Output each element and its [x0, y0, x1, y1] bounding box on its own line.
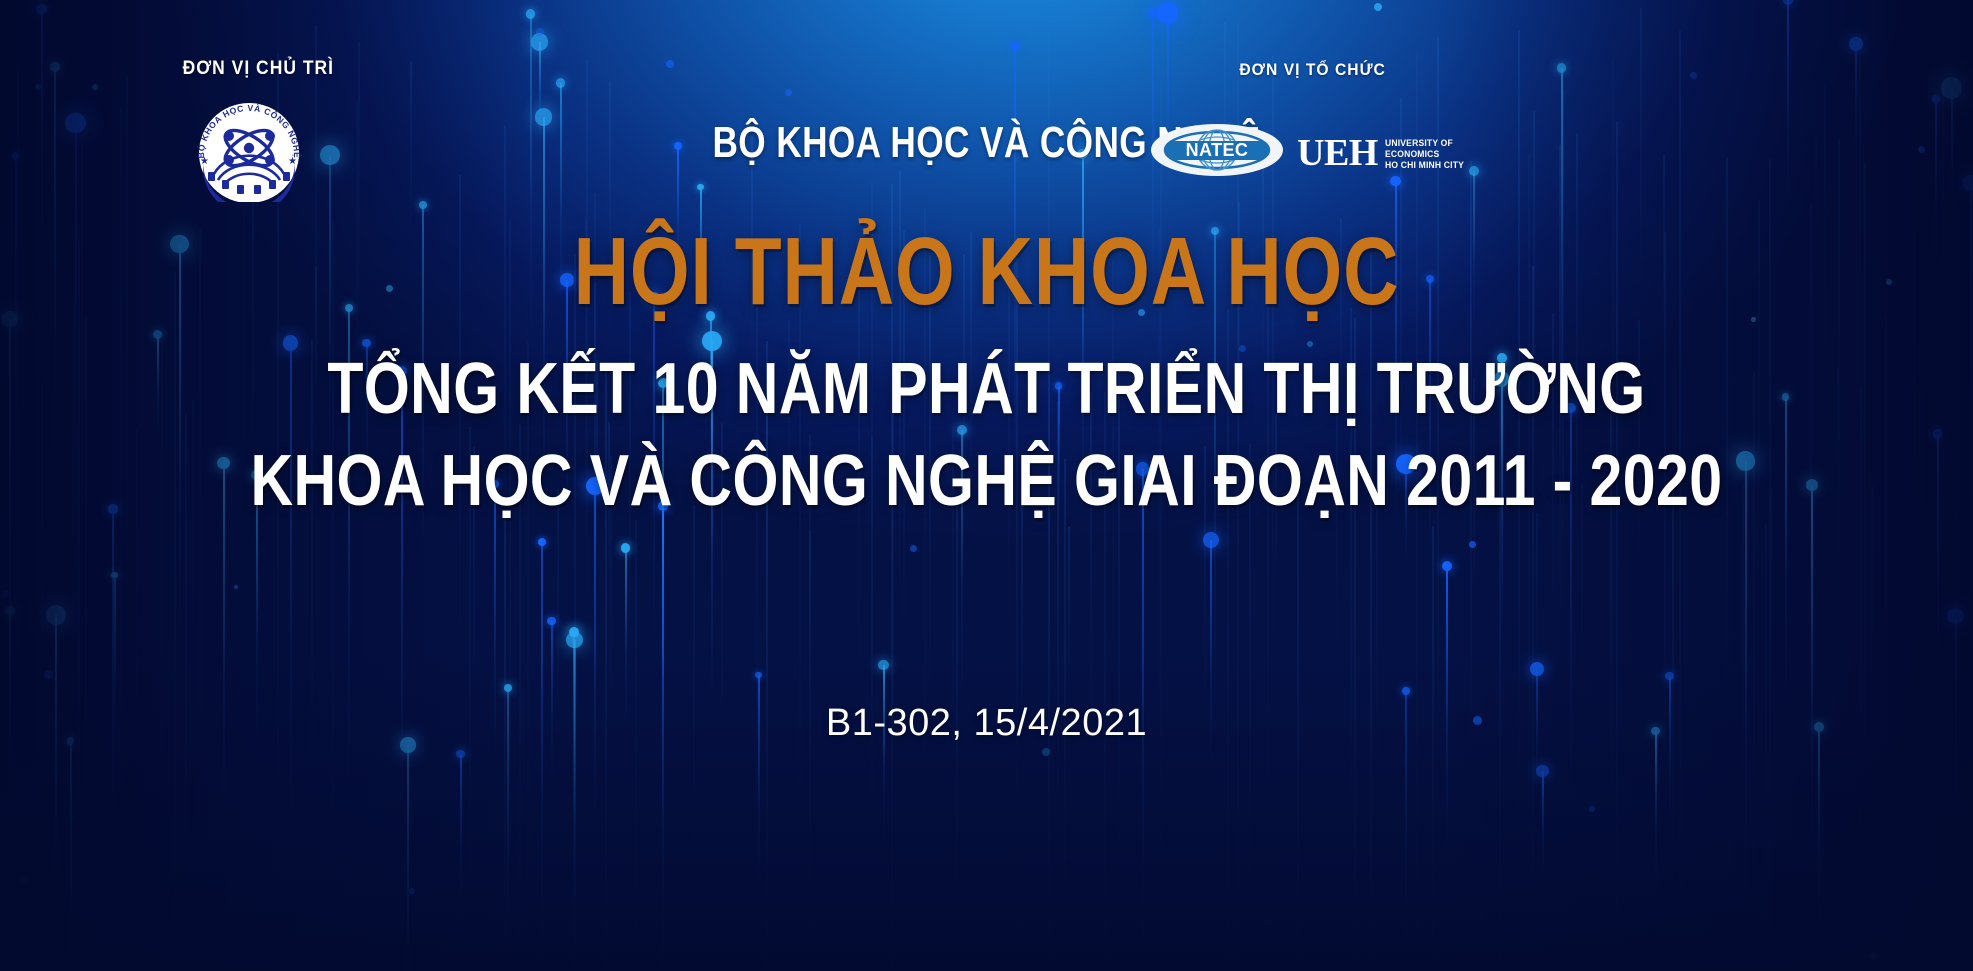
- background-streak: [1118, 362, 1120, 852]
- background-streak: [1432, 526, 1434, 971]
- particle-trail: [55, 615, 57, 971]
- particle-trail: [41, 9, 43, 339]
- background-streak: [1919, 389, 1921, 536]
- background-streak: [17, 69, 19, 799]
- ueh-subtext: University of Economics Ho Chi Minh City: [1385, 136, 1468, 170]
- particle-trail: [1669, 676, 1671, 823]
- ueh-subtext-line-2: Economics: [1385, 149, 1464, 159]
- particle-dot: [1530, 662, 1544, 676]
- particle-dot: [1402, 687, 1410, 695]
- background-streak: [81, 143, 83, 549]
- organizer-label: ĐƠN VỊ TỔ CHỨC: [1239, 60, 1385, 80]
- particle-dot: [65, 113, 86, 134]
- particle-trail: [54, 67, 56, 526]
- particle-dot: [12, 152, 19, 159]
- background-streak: [41, 385, 43, 833]
- particle-dot: [536, 28, 544, 36]
- particle-dot: [1941, 77, 1962, 98]
- particle-trail: [594, 486, 596, 827]
- particle-dot: [785, 89, 792, 96]
- background-streak: [1536, 513, 1538, 667]
- background-streak: [509, 221, 511, 920]
- particle-trail: [1542, 771, 1544, 881]
- particle-trail: [401, 371, 403, 812]
- particle-dot: [538, 538, 546, 546]
- background-streak: [1810, 203, 1812, 873]
- particle-trail: [573, 632, 575, 955]
- particle-dot: [531, 33, 548, 50]
- particle-dot: [1932, 95, 1940, 103]
- particle-dot: [569, 627, 579, 637]
- ueh-wordmark: UEH: [1297, 134, 1378, 172]
- particle-dot: [1690, 72, 1697, 79]
- particle-dot: [566, 632, 583, 649]
- particle-dot: [1442, 561, 1452, 571]
- host-label: ĐƠN VỊ CHỦ TRÌ: [183, 58, 334, 80]
- particle-dot: [5, 606, 15, 616]
- particle-dot: [170, 235, 189, 254]
- particle-dot: [621, 543, 630, 552]
- venue-date-text: B1-302, 15/4/2021: [0, 702, 1973, 744]
- background-streak: [1672, 483, 1674, 890]
- background-streak: [1942, 87, 1944, 345]
- particle-trail: [112, 509, 114, 844]
- background-streak: [73, 291, 75, 851]
- particle-dot: [1665, 672, 1674, 681]
- background-streak: [120, 108, 122, 971]
- particle-dot: [1011, 42, 1019, 50]
- bottom-vignette: [0, 651, 1973, 971]
- particle-trail: [70, 741, 72, 971]
- particle-dot: [153, 330, 162, 339]
- background-streak: [1770, 489, 1772, 723]
- particle-dot: [21, 877, 27, 883]
- ueh-subtext-line-3: Ho Chi Minh City: [1385, 160, 1464, 170]
- particle-dot: [1806, 479, 1818, 491]
- background-streak: [1859, 35, 1861, 419]
- particle-dot: [36, 4, 47, 15]
- background-streak: [1765, 524, 1767, 971]
- particle-dot: [111, 572, 118, 579]
- organization-title: BỘ KHOA HỌC VÀ CÔNG NGHỆ: [197, 118, 1775, 168]
- particle-dot: [910, 545, 917, 552]
- particle-trail: [114, 575, 116, 777]
- particle-trail: [1745, 461, 1747, 932]
- background-streak: [1068, 527, 1070, 692]
- particle-dot: [1390, 176, 1401, 187]
- background-streak: [1860, 387, 1862, 898]
- particle-dot: [1203, 532, 1219, 548]
- background-streak: [78, 241, 80, 971]
- background-streak: [199, 229, 201, 951]
- background-streak: [1837, 368, 1839, 497]
- particle-dot: [1157, 2, 1178, 23]
- conference-banner: ĐƠN VỊ CHỦ TRÌ: [0, 0, 1973, 971]
- particle-dot: [1, 590, 9, 598]
- background-streak: [1742, 486, 1744, 805]
- particle-trail: [157, 335, 159, 441]
- background-streak: [1, 156, 3, 632]
- background-streak: [693, 505, 695, 852]
- particle-dot: [1589, 806, 1595, 812]
- particle-trail: [551, 621, 553, 780]
- particle-dot: [697, 184, 704, 191]
- particle-dot: [526, 9, 535, 18]
- particle-trail: [1811, 485, 1813, 881]
- background-streak: [1224, 22, 1226, 207]
- particle-dot: [1783, 0, 1793, 5]
- particle-trail: [1855, 44, 1857, 163]
- particle-dot: [1, 311, 18, 328]
- background-streak: [1016, 258, 1018, 830]
- particle-dot: [50, 62, 60, 72]
- background-streak: [174, 271, 176, 971]
- particle-dot: [1849, 37, 1863, 51]
- particle-dot: [1557, 63, 1566, 72]
- particle-trail: [541, 542, 543, 971]
- background-streak: [635, 520, 637, 971]
- particle-dot: [1307, 341, 1313, 347]
- particle-dot: [556, 78, 565, 87]
- particle-dot: [456, 750, 465, 759]
- background-streak: [892, 368, 894, 811]
- particle-dot: [234, 585, 238, 589]
- background-streak: [1914, 234, 1916, 552]
- background-streak: [766, 341, 768, 971]
- particle-dot: [1148, 8, 1158, 18]
- particle-dot: [44, 670, 53, 679]
- event-subtitle-line-1: TỔNG KẾT 10 NĂM PHÁT TRIỂN THỊ TRƯỜNG: [178, 348, 1796, 430]
- particle-dot: [35, 84, 41, 90]
- particle-dot: [1042, 748, 1050, 756]
- background-streak: [1872, 486, 1874, 659]
- particle-dot: [1947, 608, 1964, 625]
- background-streak: [557, 489, 559, 731]
- background-streak: [1064, 459, 1066, 899]
- particle-dot: [1918, 146, 1925, 153]
- background-streak: [37, 152, 39, 394]
- particle-trail: [1970, 183, 1972, 686]
- particle-dot: [1869, 952, 1877, 960]
- particle-dot: [547, 617, 556, 626]
- particle-dot: [1886, 279, 1892, 285]
- background-streak: [1838, 138, 1840, 705]
- event-subtitle-line-2: KHOA HỌC VÀ CÔNG NGHỆ GIAI ĐOẠN 2011 - 2…: [178, 440, 1796, 522]
- particle-trail: [9, 319, 11, 837]
- particle-trail: [75, 123, 77, 480]
- background-streak: [1864, 162, 1866, 892]
- particle-dot: [878, 660, 889, 671]
- background-streak: [1824, 82, 1826, 435]
- particle-dot: [46, 605, 66, 625]
- particle-trail: [460, 754, 462, 923]
- particle-trail: [625, 548, 627, 725]
- background-streak: [1815, 138, 1817, 293]
- particle-dot: [409, 888, 415, 894]
- particle-dot: [419, 201, 427, 209]
- particle-trail: [1655, 731, 1657, 893]
- particle-dot: [1536, 765, 1549, 778]
- background-streak: [126, 77, 128, 597]
- background-streak: [527, 342, 529, 930]
- particle-dot: [362, 339, 371, 348]
- ueh-logo-icon: UEH University of Economics Ho Chi Minh …: [1297, 131, 1447, 175]
- particle-dot: [504, 684, 512, 692]
- background-streak: [76, 426, 78, 830]
- natec-logo-icon: NATEC: [1150, 122, 1284, 178]
- particle-trail: [15, 156, 17, 653]
- particle-trail: [1937, 434, 1939, 686]
- natec-wordmark: NATEC: [1186, 140, 1249, 160]
- particle-trail: [1935, 99, 1937, 270]
- ueh-subtext-line-1: University of: [1385, 138, 1464, 148]
- particle-dot: [1933, 429, 1942, 438]
- particle-dot: [92, 84, 98, 90]
- particle-trail: [883, 665, 885, 840]
- background-streak: [161, 322, 163, 971]
- particle-dot: [1469, 541, 1476, 548]
- particle-trail: [1818, 727, 1820, 945]
- particle-dot: [1963, 175, 1973, 190]
- particle-trail: [1951, 88, 1953, 240]
- particle-trail: [574, 640, 576, 971]
- background-streak: [332, 222, 334, 971]
- particle-trail: [407, 745, 409, 971]
- background-streak: [85, 315, 87, 971]
- particle-dot: [108, 504, 118, 514]
- particle-dot: [755, 672, 762, 679]
- particle-trail: [1787, 0, 1789, 207]
- particle-dot: [666, 60, 674, 68]
- event-main-title: HỘI THẢO KHOA HỌC: [197, 222, 1775, 322]
- particle-dot: [1374, 3, 1382, 11]
